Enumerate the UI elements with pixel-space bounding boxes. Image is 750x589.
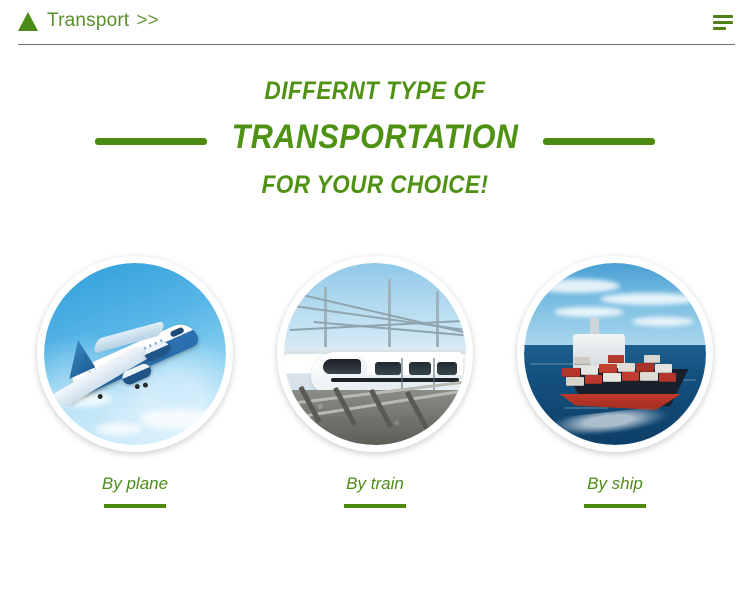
transport-options-list: By plane — [0, 256, 750, 508]
high-speed-train-photo-image — [284, 263, 466, 445]
heading-line-1: DIFFERNT TYPE OF — [38, 78, 713, 104]
train-window — [437, 362, 457, 375]
container — [640, 372, 658, 381]
cloud — [600, 293, 698, 305]
airplane-photo[interactable] — [37, 256, 233, 452]
sleeper — [298, 386, 321, 424]
hamburger-bar-top — [713, 15, 733, 18]
triangle-up-icon — [18, 12, 38, 31]
page-header: Transport >> — [0, 0, 750, 48]
heading-dash-left — [95, 138, 207, 145]
container — [655, 364, 672, 373]
container — [603, 373, 621, 382]
train-windshield — [323, 359, 361, 374]
ballast-track-bed — [284, 390, 466, 445]
container — [574, 357, 590, 365]
container — [599, 364, 617, 373]
container — [585, 375, 602, 384]
cloud-wisp — [140, 409, 218, 429]
container-ship-photo[interactable] — [517, 256, 713, 452]
brand-label: Transport — [47, 10, 129, 32]
container — [618, 363, 635, 372]
sleeper — [369, 389, 393, 428]
container-ship-photo-image — [524, 263, 706, 445]
sky-background — [524, 263, 706, 345]
airplane-photo-image — [44, 263, 226, 445]
heading-dash-right — [543, 138, 655, 145]
transport-card-ship[interactable]: By ship — [517, 256, 713, 508]
transport-card-train[interactable]: By train — [277, 256, 473, 508]
hamburger-menu-icon[interactable] — [713, 15, 735, 30]
train-door-line — [401, 358, 403, 390]
container — [644, 355, 660, 363]
train-scene-background — [284, 263, 466, 445]
card-caption-underline — [584, 504, 646, 508]
container — [659, 373, 676, 382]
container — [562, 368, 580, 377]
cloud — [534, 279, 620, 293]
card-caption-train[interactable]: By train — [346, 474, 404, 494]
card-caption-plane[interactable]: By plane — [102, 474, 168, 494]
train-window — [375, 362, 401, 375]
cloud — [632, 317, 694, 326]
cargo-containers — [560, 354, 684, 388]
brand-link[interactable]: Transport >> — [18, 0, 159, 45]
cloud-wisp — [96, 423, 142, 435]
card-caption-underline — [104, 504, 166, 508]
container — [622, 372, 639, 381]
ship-scene-background — [524, 263, 706, 445]
double-chevron-right-icon: >> — [136, 10, 158, 32]
high-speed-train-photo[interactable] — [277, 256, 473, 452]
container — [608, 355, 624, 363]
train-stripe — [331, 378, 459, 382]
container — [636, 363, 654, 372]
sea-glint — [564, 407, 608, 409]
airplane-cockpit-window — [170, 326, 185, 337]
card-caption-underline — [344, 504, 406, 508]
cloud — [554, 307, 624, 317]
heading-line-3: FOR YOUR CHOICE! — [38, 172, 713, 198]
train-window — [409, 362, 431, 375]
container — [581, 366, 598, 375]
airplane-engine — [143, 340, 172, 362]
container — [566, 377, 584, 386]
card-caption-ship[interactable]: By ship — [587, 474, 643, 494]
transport-card-plane[interactable]: By plane — [37, 256, 233, 508]
hamburger-bar-middle — [713, 21, 733, 24]
hamburger-bar-bottom — [713, 27, 726, 30]
header-bar: Transport >> — [18, 0, 735, 45]
